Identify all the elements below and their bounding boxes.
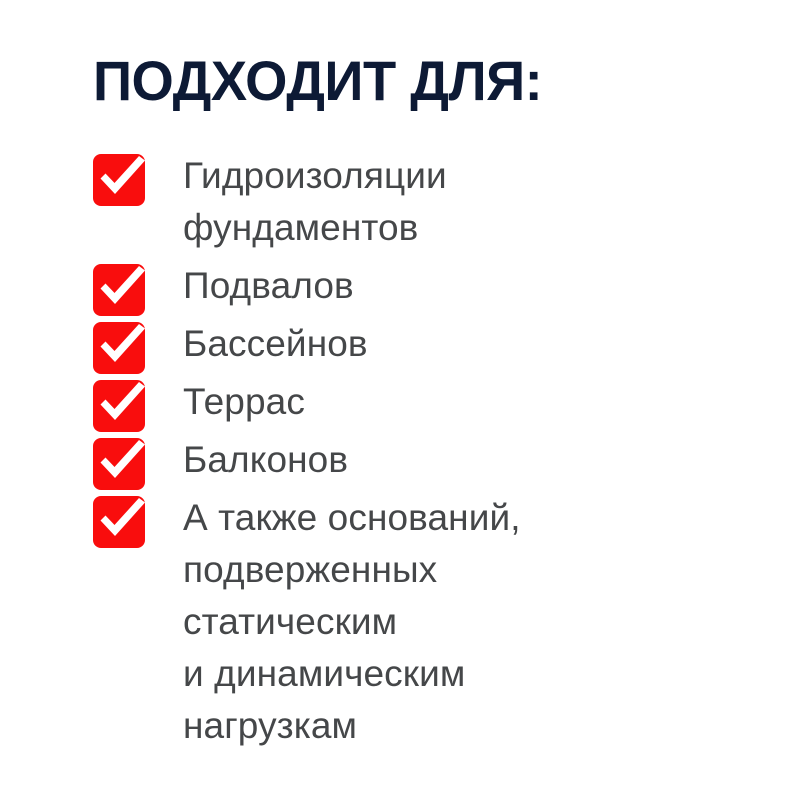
promo-poster: ПОДХОДИТ ДЛЯ: Гидроизоляции фундаментов … <box>0 0 800 800</box>
list-item-label: Бассейнов <box>183 318 733 370</box>
checkbox-checked-icon <box>93 380 145 432</box>
list-item: Гидроизоляции фундаментов <box>93 150 733 254</box>
checkbox-checked-icon <box>93 154 145 206</box>
list-item: Балконов <box>93 434 733 486</box>
list-item-label: Подвалов <box>183 260 733 312</box>
checkbox-checked-icon <box>93 438 145 490</box>
list-item: Террас <box>93 376 733 428</box>
list-item: А также оснований, подверженных статичес… <box>93 492 733 752</box>
list-item-label: Террас <box>183 376 733 428</box>
list-item: Подвалов <box>93 260 733 312</box>
checkbox-checked-icon <box>93 264 145 316</box>
list-item-label: Гидроизоляции фундаментов <box>183 150 733 254</box>
list-item: Бассейнов <box>93 318 733 370</box>
page-title: ПОДХОДИТ ДЛЯ: <box>93 52 542 110</box>
benefit-list: Гидроизоляции фундаментов Подвалов Бассе… <box>93 150 733 752</box>
list-item-label: А также оснований, подверженных статичес… <box>183 492 733 752</box>
checkbox-checked-icon <box>93 322 145 374</box>
checkbox-checked-icon <box>93 496 145 548</box>
list-item-label: Балконов <box>183 434 733 486</box>
